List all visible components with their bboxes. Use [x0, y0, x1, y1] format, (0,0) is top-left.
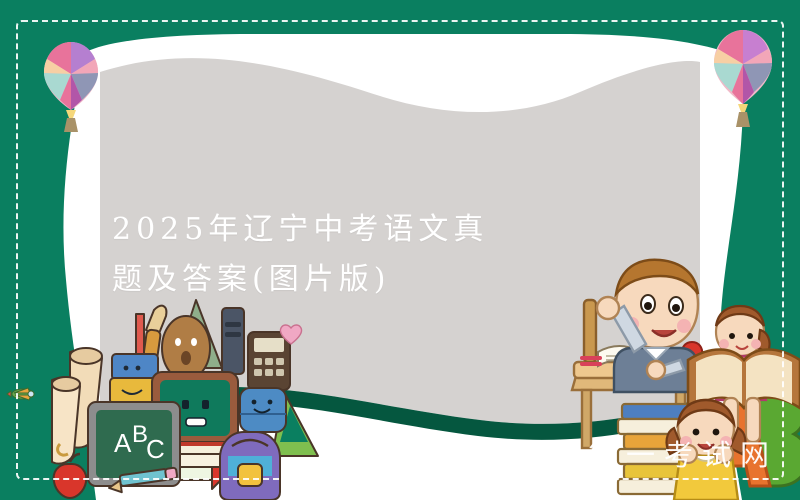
svg-text:A: A — [114, 428, 132, 458]
svg-text:C: C — [146, 434, 165, 464]
page-title: 2025年辽宁中考语文真 题及答案(图片版) — [112, 205, 582, 305]
heart-icon — [278, 322, 304, 346]
banner-canvas: 2025年辽宁中考语文真 题及答案(图片版) — [0, 0, 800, 500]
hot-air-balloon-icon — [712, 28, 774, 132]
paper-plane-icon — [6, 382, 40, 406]
site-watermark: 第一考试网 — [588, 432, 778, 474]
hot-air-balloon-icon — [42, 40, 100, 136]
